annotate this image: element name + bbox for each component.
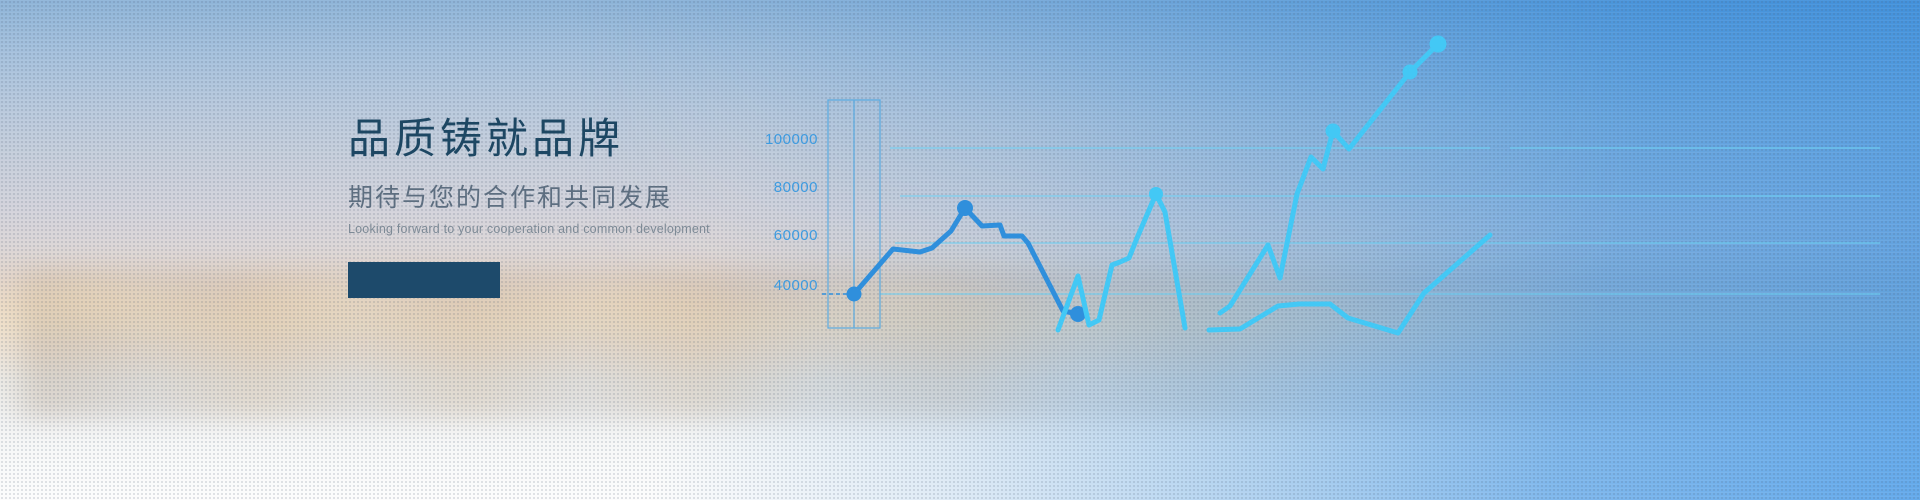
data-point[interactable] bbox=[1149, 187, 1163, 201]
data-point[interactable] bbox=[1403, 65, 1418, 80]
series-4-line bbox=[1209, 235, 1490, 333]
series-4-path bbox=[1209, 235, 1490, 333]
series-1-line bbox=[854, 208, 1078, 314]
gridlines bbox=[880, 148, 1880, 294]
data-point[interactable] bbox=[1430, 36, 1447, 53]
ytick-label-80000: 80000 bbox=[774, 179, 818, 196]
ytick-label-60000: 60000 bbox=[774, 227, 818, 244]
series-3-line bbox=[1220, 44, 1438, 313]
chart-svg: 100000 80000 60000 40000 bbox=[760, 0, 1920, 500]
series-3-path bbox=[1220, 44, 1438, 313]
hero-banner: 品质铸就品牌 期待与您的合作和共同发展 Looking forward to y… bbox=[0, 0, 1920, 500]
data-point[interactable] bbox=[847, 287, 862, 302]
series-1-path bbox=[854, 208, 1078, 314]
cta-button[interactable] bbox=[348, 262, 500, 298]
ytick-label-100000: 100000 bbox=[765, 131, 818, 148]
data-point[interactable] bbox=[1326, 124, 1341, 139]
data-point[interactable] bbox=[957, 200, 973, 216]
y-axis-ticks: 100000 80000 60000 40000 bbox=[765, 131, 818, 294]
series-2-markers bbox=[1149, 187, 1163, 201]
line-chart: 100000 80000 60000 40000 bbox=[760, 0, 1920, 500]
ytick-label-40000: 40000 bbox=[774, 277, 818, 294]
